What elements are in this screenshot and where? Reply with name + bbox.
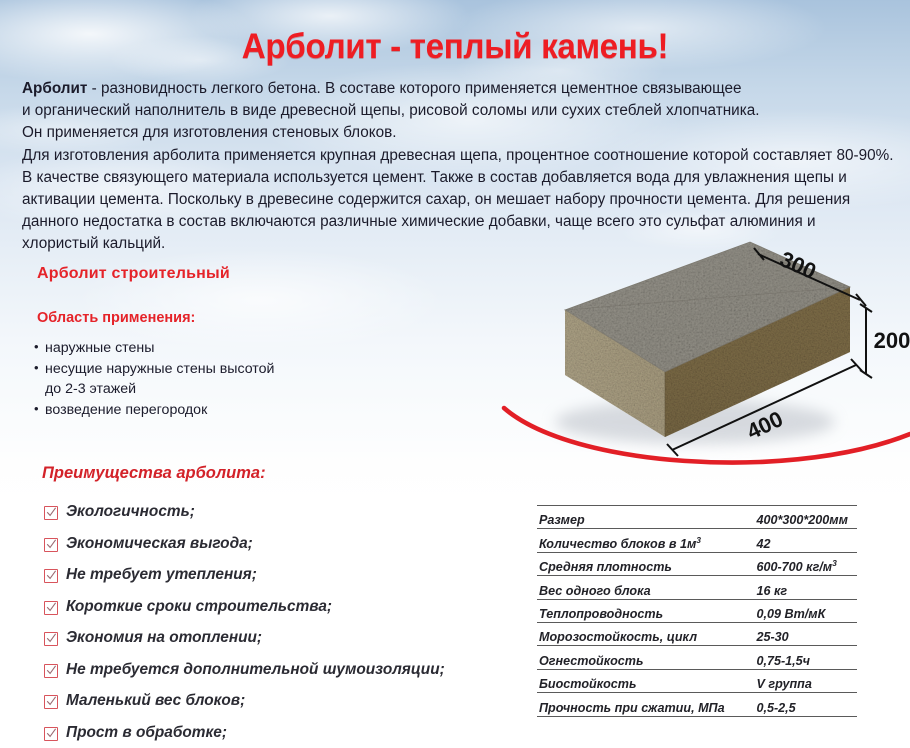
list-item: Экономическая выгода; xyxy=(44,534,514,566)
table-cell-value: 600-700 кг/м3 xyxy=(752,552,857,575)
spec-key: Вес одного блока xyxy=(539,584,651,598)
list-item-label: Экономическая выгода; xyxy=(66,534,253,554)
table-cell-key: Количество блоков в 1м3 xyxy=(537,529,752,552)
list-item: Экологичность; xyxy=(44,502,514,534)
list-item-label: Короткие сроки строительства; xyxy=(66,597,332,617)
table-cell-key: Морозостойкость, цикл xyxy=(537,622,752,645)
table-cell-value: 25-30 xyxy=(752,622,857,645)
checkbox-checked-icon xyxy=(44,632,58,646)
table-cell-key: Прочность при сжатии, МПа xyxy=(537,693,752,716)
table-row: Размер 400*300*200мм xyxy=(537,506,857,529)
intro-line-2: и органический наполнитель в виде древес… xyxy=(22,100,894,122)
list-item-label: Прост в обработке; xyxy=(66,723,227,743)
intro-lead-word: Арболит xyxy=(22,80,87,97)
table-row: Вес одного блока 16 кг xyxy=(537,576,857,599)
spec-value: 42 xyxy=(756,537,770,551)
table-cell-value: 0,75-1,5ч xyxy=(752,646,857,669)
list-item: Не требует утепления; xyxy=(44,565,514,597)
list-item: наружные стены xyxy=(33,338,333,359)
list-item: несущие наружные стены высотой xyxy=(33,359,333,380)
advantages-list: Экологичность; Экономическая выгода; Не … xyxy=(44,502,514,748)
checkbox-checked-icon xyxy=(44,695,58,709)
checkbox-checked-icon xyxy=(44,727,58,741)
spec-key: Биостойкость xyxy=(539,677,636,691)
specifications-table: Размер 400*300*200мм Количество блоков в… xyxy=(537,505,857,717)
list-item: Короткие сроки строительства; xyxy=(44,597,514,629)
table-cell-key: Огнестойкость xyxy=(537,646,752,669)
advantages-heading: Преимущества арболита: xyxy=(42,464,266,483)
table-cell-value: 0,09 Вт/мК xyxy=(752,599,857,622)
table-cell-key: Размер xyxy=(537,506,752,529)
section-heading: Арболит строительный xyxy=(37,265,230,283)
usage-list: наружные стены несущие наружные стены вы… xyxy=(33,338,333,420)
dimension-label-height: 200 xyxy=(874,328,910,353)
intro-line-1: Арболит - разновидность легкого бетона. … xyxy=(22,78,894,100)
checkbox-checked-icon xyxy=(44,664,58,678)
spec-key: Количество блоков в 1м xyxy=(539,537,696,551)
table-row: Средняя плотность 600-700 кг/м3 xyxy=(537,552,857,575)
table-cell-value: 400*300*200мм xyxy=(752,506,857,529)
intro-text-block: Арболит - разновидность легкого бетона. … xyxy=(22,78,894,256)
table-cell-value: V группа xyxy=(752,669,857,692)
checkbox-checked-icon xyxy=(44,506,58,520)
table-cell-value: 0,5-2,5 xyxy=(752,693,857,716)
infographic-page: Арболит - теплый камень! Арболит - разно… xyxy=(0,0,910,748)
table-row: Прочность при сжатии, МПа 0,5-2,5 xyxy=(537,693,857,716)
spec-key: Морозостойкость, цикл xyxy=(539,630,697,644)
list-item: Не требуется дополнительной шумоизоляции… xyxy=(44,660,514,692)
table-row: Биостойкость V группа xyxy=(537,669,857,692)
table-cell-key: Вес одного блока xyxy=(537,576,752,599)
spec-value: V группа xyxy=(756,677,811,691)
table-row: Огнестойкость 0,75-1,5ч xyxy=(537,646,857,669)
red-swoosh-decoration xyxy=(480,390,910,485)
table-row: Морозостойкость, цикл 25-30 xyxy=(537,622,857,645)
spec-value: 16 кг xyxy=(756,584,787,598)
spec-key: Теплопроводность xyxy=(539,607,663,621)
spec-value: 25-30 xyxy=(756,630,788,644)
checkbox-checked-icon xyxy=(44,538,58,552)
table-cell-value: 16 кг xyxy=(752,576,857,599)
list-item-label: Не требует утепления; xyxy=(66,565,257,585)
list-item-label: Экологичность; xyxy=(66,502,195,522)
list-item-continuation: до 2-3 этажей xyxy=(33,379,333,400)
spec-value: 0,09 Вт/мК xyxy=(756,607,825,621)
spec-value-superscript: 3 xyxy=(832,558,837,568)
table-cell-key: Биостойкость xyxy=(537,669,752,692)
table-row: Количество блоков в 1м3 42 xyxy=(537,529,857,552)
list-item-label: Не требуется дополнительной шумоизоляции… xyxy=(66,660,445,680)
table-cell-value: 42 xyxy=(752,529,857,552)
spec-key-superscript: 3 xyxy=(696,535,701,545)
checkbox-checked-icon xyxy=(44,601,58,615)
spec-key: Прочность при сжатии, МПа xyxy=(539,701,725,715)
table-cell-key: Средняя плотность xyxy=(537,552,752,575)
list-item: Прост в обработке; xyxy=(44,723,514,748)
table-row: Теплопроводность 0,09 Вт/мК xyxy=(537,599,857,622)
list-item: Маленький вес блоков; xyxy=(44,691,514,723)
list-item-label: Экономия на отоплении; xyxy=(66,628,262,648)
intro-line-3: Он применяется для изготовления стеновых… xyxy=(22,122,894,144)
spec-key: Размер xyxy=(539,513,585,527)
list-item: Экономия на отоплении; xyxy=(44,628,514,660)
page-title: Арболит - теплый камень! xyxy=(23,27,888,67)
spec-value: 400*300*200мм xyxy=(756,513,847,527)
spec-value: 600-700 кг/м xyxy=(756,560,832,574)
usage-heading: Область применения: xyxy=(37,310,195,326)
list-item-label: Маленький вес блоков; xyxy=(66,691,245,711)
table-cell-key: Теплопроводность xyxy=(537,599,752,622)
spec-value: 0,5-2,5 xyxy=(756,701,795,715)
list-item: возведение перегородок xyxy=(33,400,333,421)
checkbox-checked-icon xyxy=(44,569,58,583)
spec-key: Средняя плотность xyxy=(539,560,672,574)
spec-key: Огнестойкость xyxy=(539,654,643,668)
intro-line-1-rest: - разновидность легкого бетона. В состав… xyxy=(87,80,741,97)
spec-value: 0,75-1,5ч xyxy=(756,654,810,668)
